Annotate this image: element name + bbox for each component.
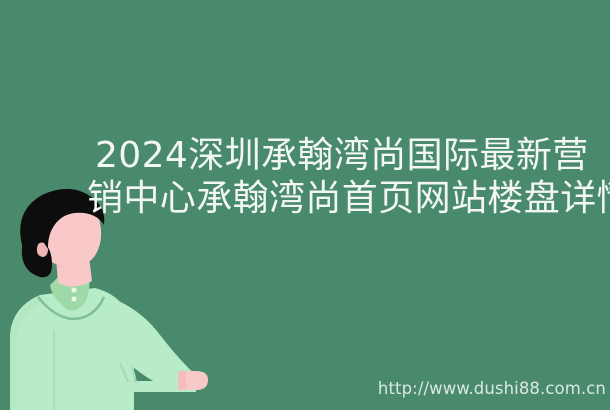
promo-banner: 2024深圳承翰湾尚国际最新营 销中心承翰湾尚首页网站楼盘详情 http://w… [0, 0, 610, 410]
title-line-1: 2024深圳承翰湾尚国际最新营 [95, 134, 555, 177]
page-title: 2024深圳承翰湾尚国际最新营 销中心承翰湾尚首页网站楼盘详情 [95, 134, 555, 220]
title-line-2: 销中心承翰湾尚首页网站楼盘详情 [87, 177, 555, 220]
watermark-url: http://www.dushi88.com.cn [378, 380, 606, 398]
